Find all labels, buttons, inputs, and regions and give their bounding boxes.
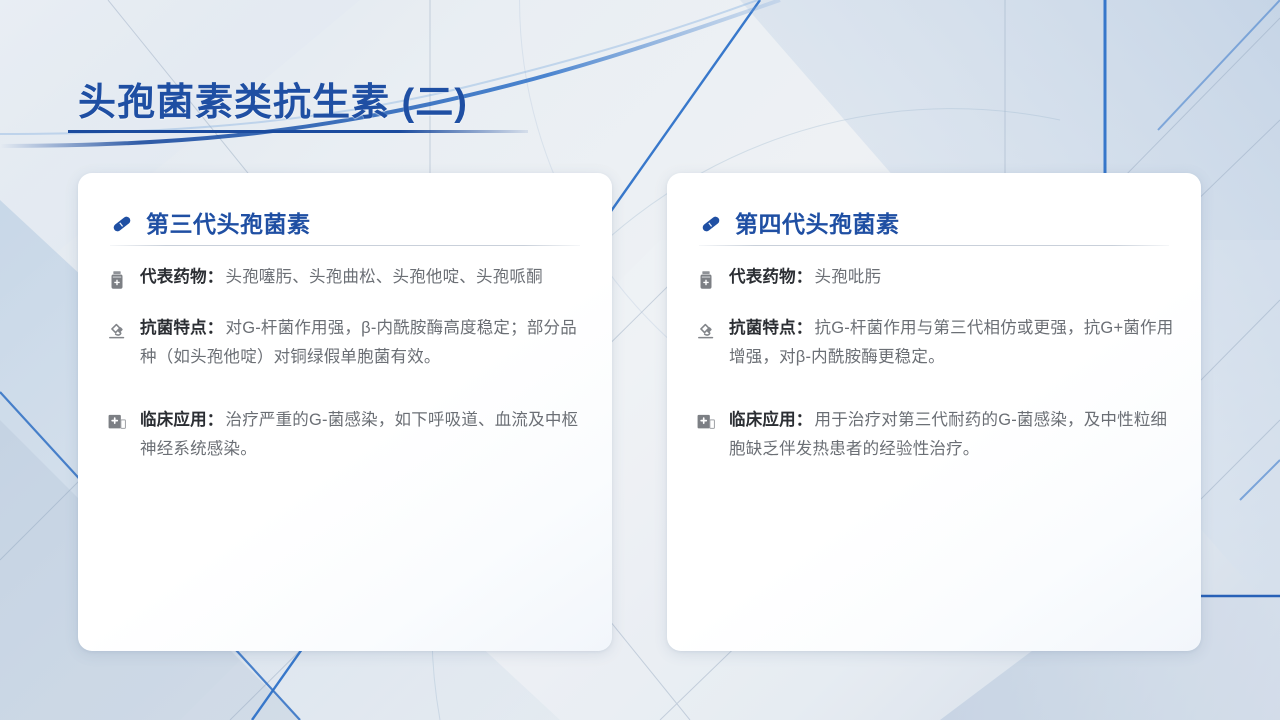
card-header-divider bbox=[699, 245, 1169, 246]
list-item-text: 抗菌特点：抗G-杆菌作用与第三代相仿或更强，抗G+菌作用增强，对β-内酰胺酶更稳… bbox=[729, 314, 1175, 372]
list-item-label: 临床应用： bbox=[140, 411, 224, 429]
list-item-label: 抗菌特点： bbox=[140, 319, 224, 337]
capsule-pill-icon bbox=[699, 212, 723, 236]
list-item: 代表药物：头孢噻肟、头孢曲松、头孢他啶、头孢哌酮 bbox=[106, 263, 586, 292]
slide-root: 头孢菌素类抗生素 (二) 第三代头孢菌素 bbox=[0, 0, 1280, 720]
card-header: 第四代头孢菌素 bbox=[699, 201, 1169, 247]
card-header: 第三代头孢菌素 bbox=[110, 201, 580, 247]
card-body: 代表药物：头孢噻肟、头孢曲松、头孢他啶、头孢哌酮 bbox=[106, 263, 586, 486]
list-item-text: 抗菌特点：对G-杆菌作用强，β-内酰胺酶高度稳定；部分品种（如头孢他啶）对铜绿假… bbox=[140, 314, 586, 372]
list-item-text: 代表药物：头孢吡肟 bbox=[729, 263, 1175, 292]
list-item-text: 代表药物：头孢噻肟、头孢曲松、头孢他啶、头孢哌酮 bbox=[140, 263, 586, 292]
list-item-value: 头孢噻肟、头孢曲松、头孢他啶、头孢哌酮 bbox=[226, 268, 543, 286]
list-item-label: 代表药物： bbox=[140, 268, 224, 286]
title-block: 头孢菌素类抗生素 (二) bbox=[78, 78, 778, 140]
title-underline bbox=[68, 130, 528, 133]
microscope-icon bbox=[106, 320, 128, 342]
card-body: 代表药物：头孢吡肟 抗菌特点：抗G- bbox=[695, 263, 1175, 486]
list-item: 代表药物：头孢吡肟 bbox=[695, 263, 1175, 292]
capsule-pill-icon bbox=[110, 212, 134, 236]
card-fourth-generation: 第四代头孢菌素 代表药物：头孢吡肟 bbox=[667, 173, 1201, 651]
medicine-bottle-icon bbox=[106, 269, 128, 291]
list-item: 临床应用：治疗严重的G-菌感染，如下呼吸道、血流及中枢神经系统感染。 bbox=[106, 406, 586, 464]
list-item: 抗菌特点：对G-杆菌作用强，β-内酰胺酶高度稳定；部分品种（如头孢他啶）对铜绿假… bbox=[106, 314, 586, 372]
card-third-generation: 第三代头孢菌素 代表药物：头孢噻肟、头孢曲松、头孢他啶、头孢哌酮 bbox=[78, 173, 612, 651]
list-item-text: 临床应用：用于治疗对第三代耐药的G-菌感染，及中性粒细胞缺乏伴发热患者的经验性治… bbox=[729, 406, 1175, 464]
card-title: 第四代头孢菌素 bbox=[735, 211, 900, 237]
page-title: 头孢菌素类抗生素 (二) bbox=[78, 78, 778, 128]
medicine-bottle-icon bbox=[695, 269, 717, 291]
microscope-icon bbox=[695, 320, 717, 342]
card-title: 第三代头孢菌素 bbox=[146, 211, 311, 237]
list-item-value: 头孢吡肟 bbox=[815, 268, 882, 286]
list-item-label: 抗菌特点： bbox=[729, 319, 813, 337]
list-item: 抗菌特点：抗G-杆菌作用与第三代相仿或更强，抗G+菌作用增强，对β-内酰胺酶更稳… bbox=[695, 314, 1175, 372]
hospital-plus-icon bbox=[695, 412, 717, 434]
hospital-plus-icon bbox=[106, 412, 128, 434]
card-header-divider bbox=[110, 245, 580, 246]
list-item-label: 代表药物： bbox=[729, 268, 813, 286]
list-item: 临床应用：用于治疗对第三代耐药的G-菌感染，及中性粒细胞缺乏伴发热患者的经验性治… bbox=[695, 406, 1175, 464]
list-item-label: 临床应用： bbox=[729, 411, 813, 429]
list-item-text: 临床应用：治疗严重的G-菌感染，如下呼吸道、血流及中枢神经系统感染。 bbox=[140, 406, 586, 464]
